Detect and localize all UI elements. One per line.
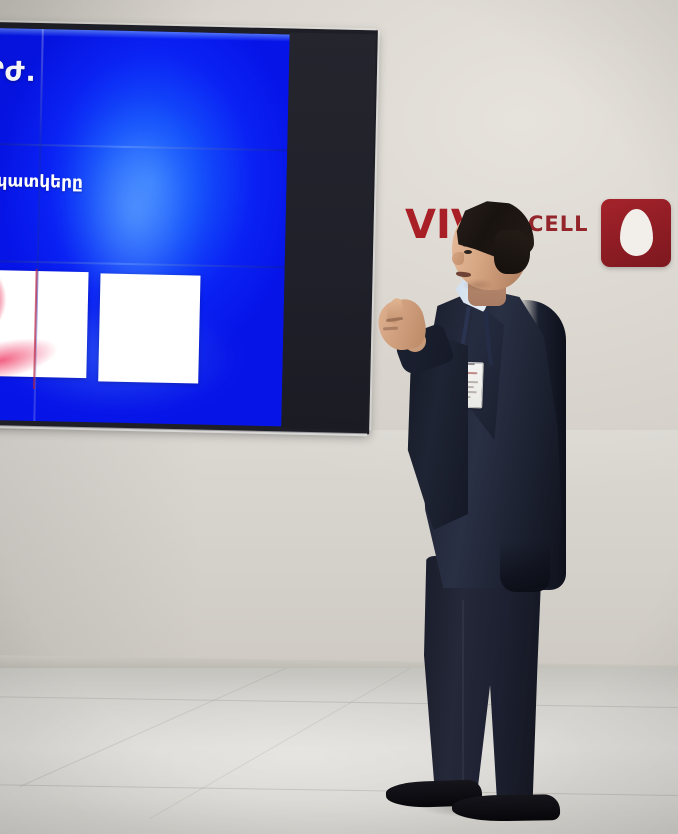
nose xyxy=(452,252,464,265)
jacket-hem xyxy=(500,540,550,592)
trousers xyxy=(424,556,542,804)
shoe-right xyxy=(452,794,560,822)
hair-back xyxy=(494,230,530,274)
eye xyxy=(464,250,472,254)
trouser-crease xyxy=(462,600,464,790)
jaw-shading xyxy=(456,276,500,294)
photo-scene: ԱՐԺ. ւակ պատկերը VIV CELL xyxy=(0,0,678,834)
presenter xyxy=(0,0,678,834)
